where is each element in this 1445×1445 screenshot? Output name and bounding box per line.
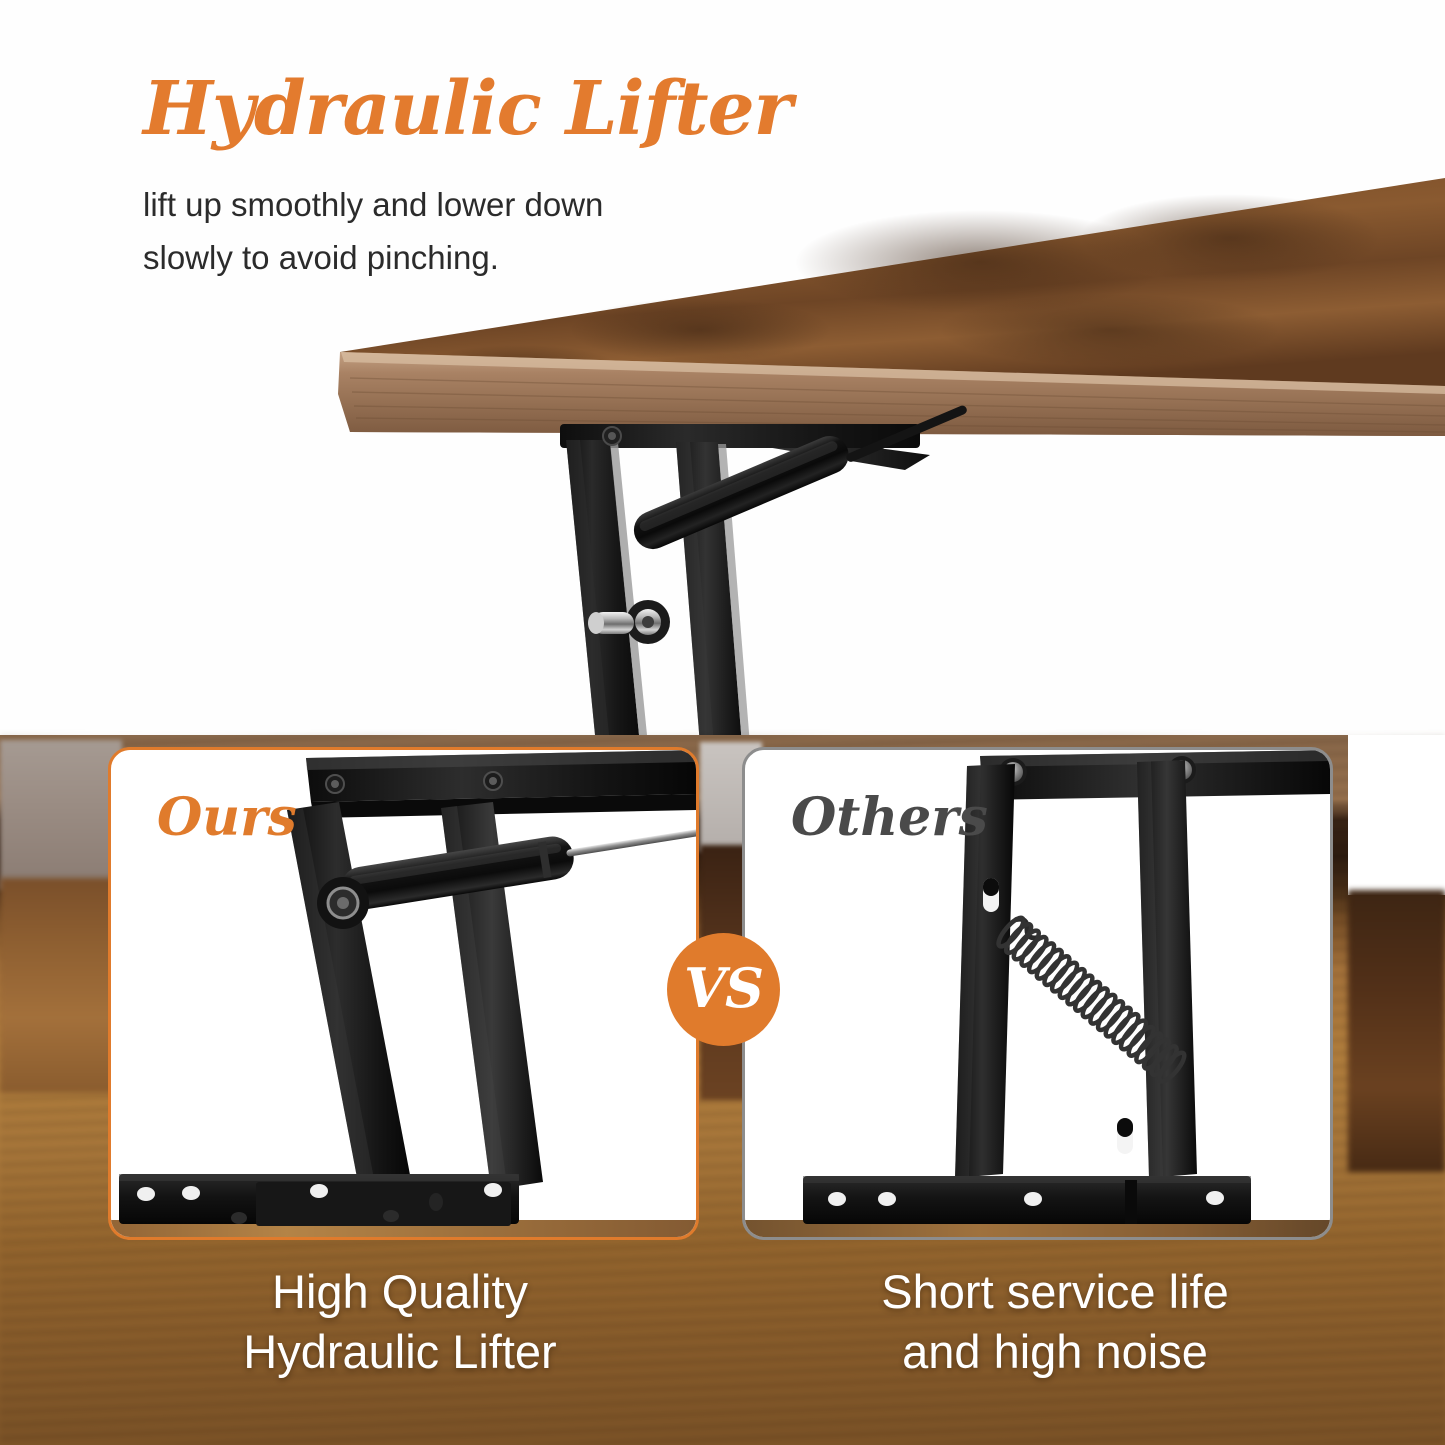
background-slab-right-wood <box>1348 890 1445 1172</box>
piston-rod <box>566 827 696 857</box>
ours-badge-label: Ours <box>157 792 297 844</box>
background-right-white <box>1348 735 1445 895</box>
caption-others-line-1: Short service life <box>745 1262 1365 1322</box>
caption-others-line-2: and high noise <box>745 1322 1365 1382</box>
infographic-canvas: Hydraulic Lifter lift up smoothly and lo… <box>0 0 1445 1445</box>
background-slab-left-wood <box>0 878 122 1093</box>
caption-ours-line-1: High Quality <box>90 1262 710 1322</box>
caption-ours: High Quality Hydraulic Lifter <box>90 1262 710 1382</box>
subtitle-line-2: slowly to avoid pinching. <box>143 231 783 284</box>
vs-badge: VS <box>667 933 780 1046</box>
caption-others: Short service life and high noise <box>745 1262 1365 1382</box>
background-slab-left-grey <box>0 740 122 890</box>
page-title: Hydraulic Lifter <box>143 72 792 146</box>
page-subtitle: lift up smoothly and lower down slowly t… <box>143 178 783 285</box>
vs-label: VS <box>684 961 763 1015</box>
others-badge-label: Others <box>791 792 988 844</box>
subtitle-line-1: lift up smoothly and lower down <box>143 178 783 231</box>
comparison-panel-others[interactable]: Others <box>742 747 1333 1240</box>
caption-ours-line-2: Hydraulic Lifter <box>90 1322 710 1382</box>
comparison-panel-ours[interactable]: Ours <box>108 747 699 1240</box>
